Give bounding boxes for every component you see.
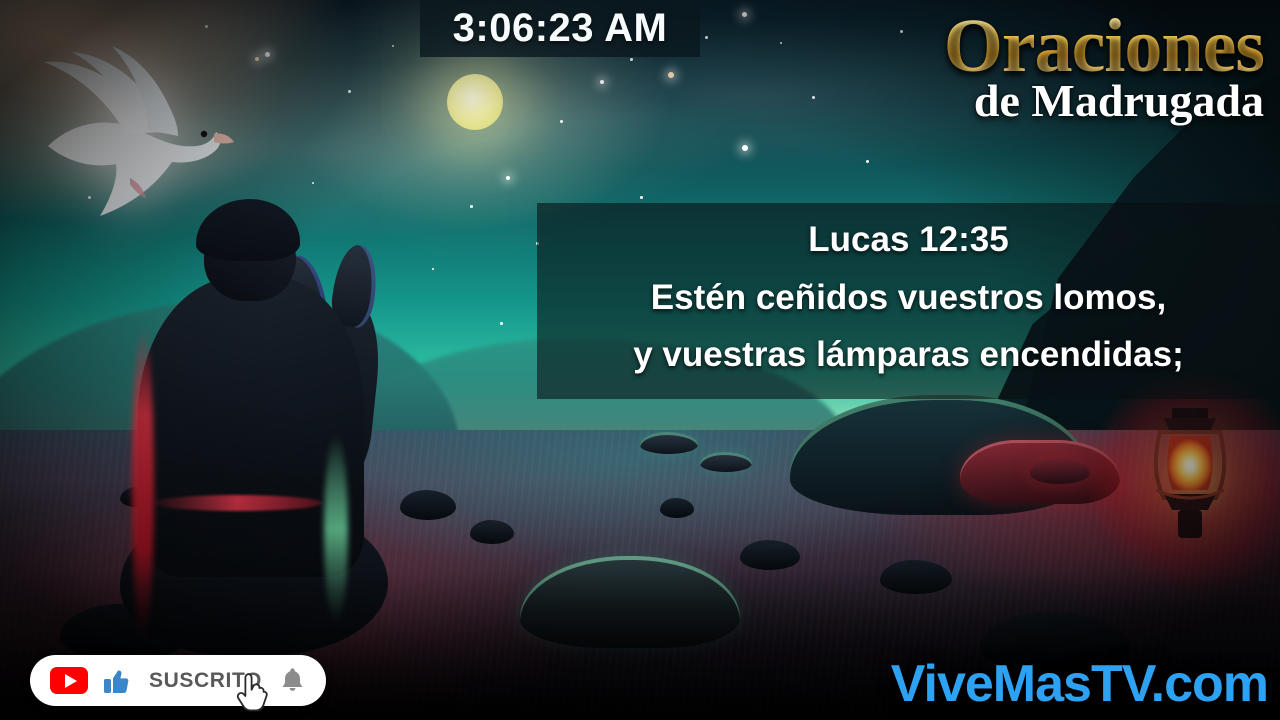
- clock-time: 3:06:23 AM: [453, 6, 668, 51]
- subscribe-bar[interactable]: SUSCRITO: [30, 655, 326, 706]
- video-frame: 3:06:23 AM Oraciones de Madrugada Lucas …: [0, 0, 1280, 720]
- verse-reference: Lucas 12:35: [808, 220, 1008, 260]
- subscribe-label[interactable]: SUSCRITO: [146, 669, 265, 693]
- verse-line-2: y vuestras lámparas encendidas;: [633, 327, 1184, 384]
- clock-panel: 3:06:23 AM: [420, 0, 700, 57]
- verse-line-1: Estén ceñidos vuestros lomos,: [651, 270, 1166, 327]
- bell-icon[interactable]: [279, 666, 306, 695]
- youtube-play-icon[interactable]: [50, 667, 88, 694]
- brand-title: Oraciones: [944, 8, 1264, 84]
- site-watermark: ViveMasTV.com: [891, 654, 1268, 714]
- thumbs-up-icon[interactable]: [102, 666, 132, 696]
- verse-panel: Lucas 12:35 Estén ceñidos vuestros lomos…: [537, 203, 1280, 399]
- channel-title-block: Oraciones de Madrugada: [944, 8, 1264, 124]
